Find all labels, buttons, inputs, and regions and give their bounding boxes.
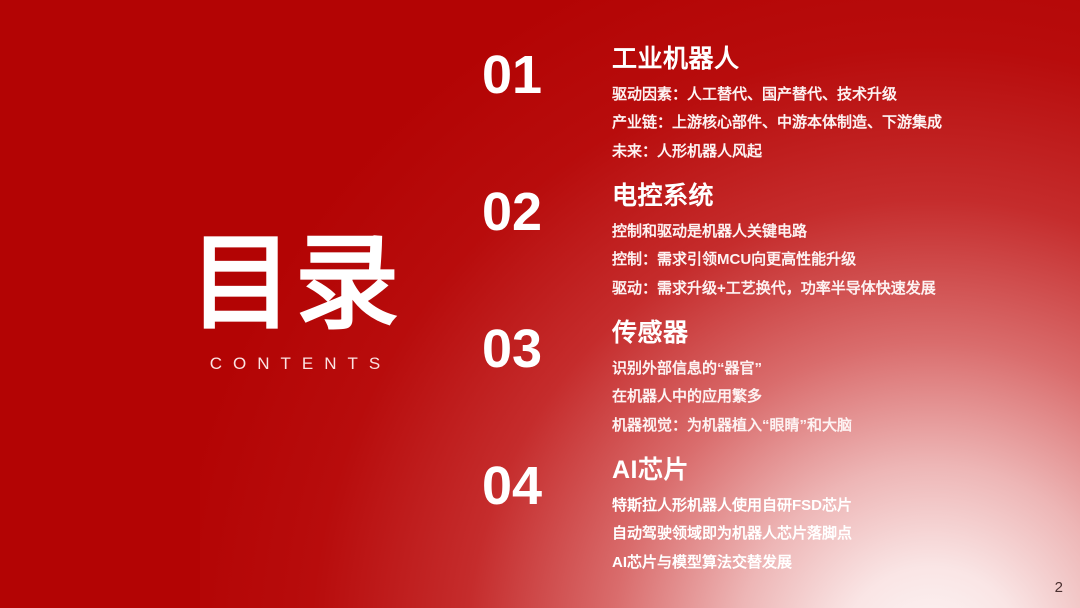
page-title: 目录: [150, 228, 440, 340]
entry-line: 机器视觉：为机器植入“眼睛”和大脑: [612, 412, 1070, 441]
presentation-slide: 目录 CONTENTS 01 工业机器人 驱动因素：人工替代、国产替代、技术升级…: [0, 0, 1080, 608]
entry-line: 驱动：需求升级+工艺换代，功率半导体快速发展: [612, 275, 1070, 304]
entry-title: 工业机器人: [612, 44, 1070, 75]
entry-line: 驱动因素：人工替代、国产替代、技术升级: [612, 81, 1070, 110]
entry-title: 传感器: [612, 318, 1070, 349]
entry-line: 识别外部信息的“器官”: [612, 355, 1070, 384]
contents-entry-02[interactable]: 02 电控系统 控制和驱动是机器人关键电路 控制：需求引领MCU向更高性能升级 …: [482, 181, 1080, 318]
entry-body: 传感器 识别外部信息的“器官” 在机器人中的应用繁多 机器视觉：为机器植入“眼睛…: [612, 318, 1070, 440]
entry-line: 控制和驱动是机器人关键电路: [612, 218, 1070, 247]
contents-entry-04[interactable]: 04 AI芯片 特斯拉人形机器人使用自研FSD芯片 自动驾驶领域即为机器人芯片落…: [482, 455, 1080, 592]
entry-line: 产业链：上游核心部件、中游本体制造、下游集成: [612, 109, 1070, 138]
page-subtitle: CONTENTS: [150, 354, 440, 374]
entry-line: 控制：需求引领MCU向更高性能升级: [612, 246, 1070, 275]
entry-body: AI芯片 特斯拉人形机器人使用自研FSD芯片 自动驾驶领域即为机器人芯片落脚点 …: [612, 455, 1070, 577]
entry-line: 特斯拉人形机器人使用自研FSD芯片: [612, 492, 1070, 521]
entry-description: 控制和驱动是机器人关键电路 控制：需求引领MCU向更高性能升级 驱动：需求升级+…: [612, 218, 1070, 304]
entry-number: 01: [482, 48, 578, 102]
contents-entry-03[interactable]: 03 传感器 识别外部信息的“器官” 在机器人中的应用繁多 机器视觉：为机器植入…: [482, 318, 1080, 455]
entry-number: 02: [482, 185, 578, 239]
entry-line: AI芯片与模型算法交替发展: [612, 549, 1070, 578]
entry-number: 03: [482, 322, 578, 376]
entry-line: 未来：人形机器人风起: [612, 138, 1070, 167]
entry-number: 04: [482, 459, 578, 513]
entry-description: 特斯拉人形机器人使用自研FSD芯片 自动驾驶领域即为机器人芯片落脚点 AI芯片与…: [612, 492, 1070, 578]
entry-description: 驱动因素：人工替代、国产替代、技术升级 产业链：上游核心部件、中游本体制造、下游…: [612, 81, 1070, 167]
entry-title: AI芯片: [612, 455, 1070, 486]
entry-line: 在机器人中的应用繁多: [612, 383, 1070, 412]
contents-list: 01 工业机器人 驱动因素：人工替代、国产替代、技术升级 产业链：上游核心部件、…: [482, 44, 1080, 592]
slide-content: 目录 CONTENTS 01 工业机器人 驱动因素：人工替代、国产替代、技术升级…: [0, 0, 1080, 608]
entry-body: 电控系统 控制和驱动是机器人关键电路 控制：需求引领MCU向更高性能升级 驱动：…: [612, 181, 1070, 303]
entry-description: 识别外部信息的“器官” 在机器人中的应用繁多 机器视觉：为机器植入“眼睛”和大脑: [612, 355, 1070, 441]
page-number: 2: [1055, 579, 1063, 596]
contents-title-block: 目录 CONTENTS: [150, 228, 440, 374]
entry-line: 自动驾驶领域即为机器人芯片落脚点: [612, 520, 1070, 549]
contents-entry-01[interactable]: 01 工业机器人 驱动因素：人工替代、国产替代、技术升级 产业链：上游核心部件、…: [482, 44, 1080, 181]
entry-body: 工业机器人 驱动因素：人工替代、国产替代、技术升级 产业链：上游核心部件、中游本…: [612, 44, 1070, 166]
entry-title: 电控系统: [612, 181, 1070, 212]
